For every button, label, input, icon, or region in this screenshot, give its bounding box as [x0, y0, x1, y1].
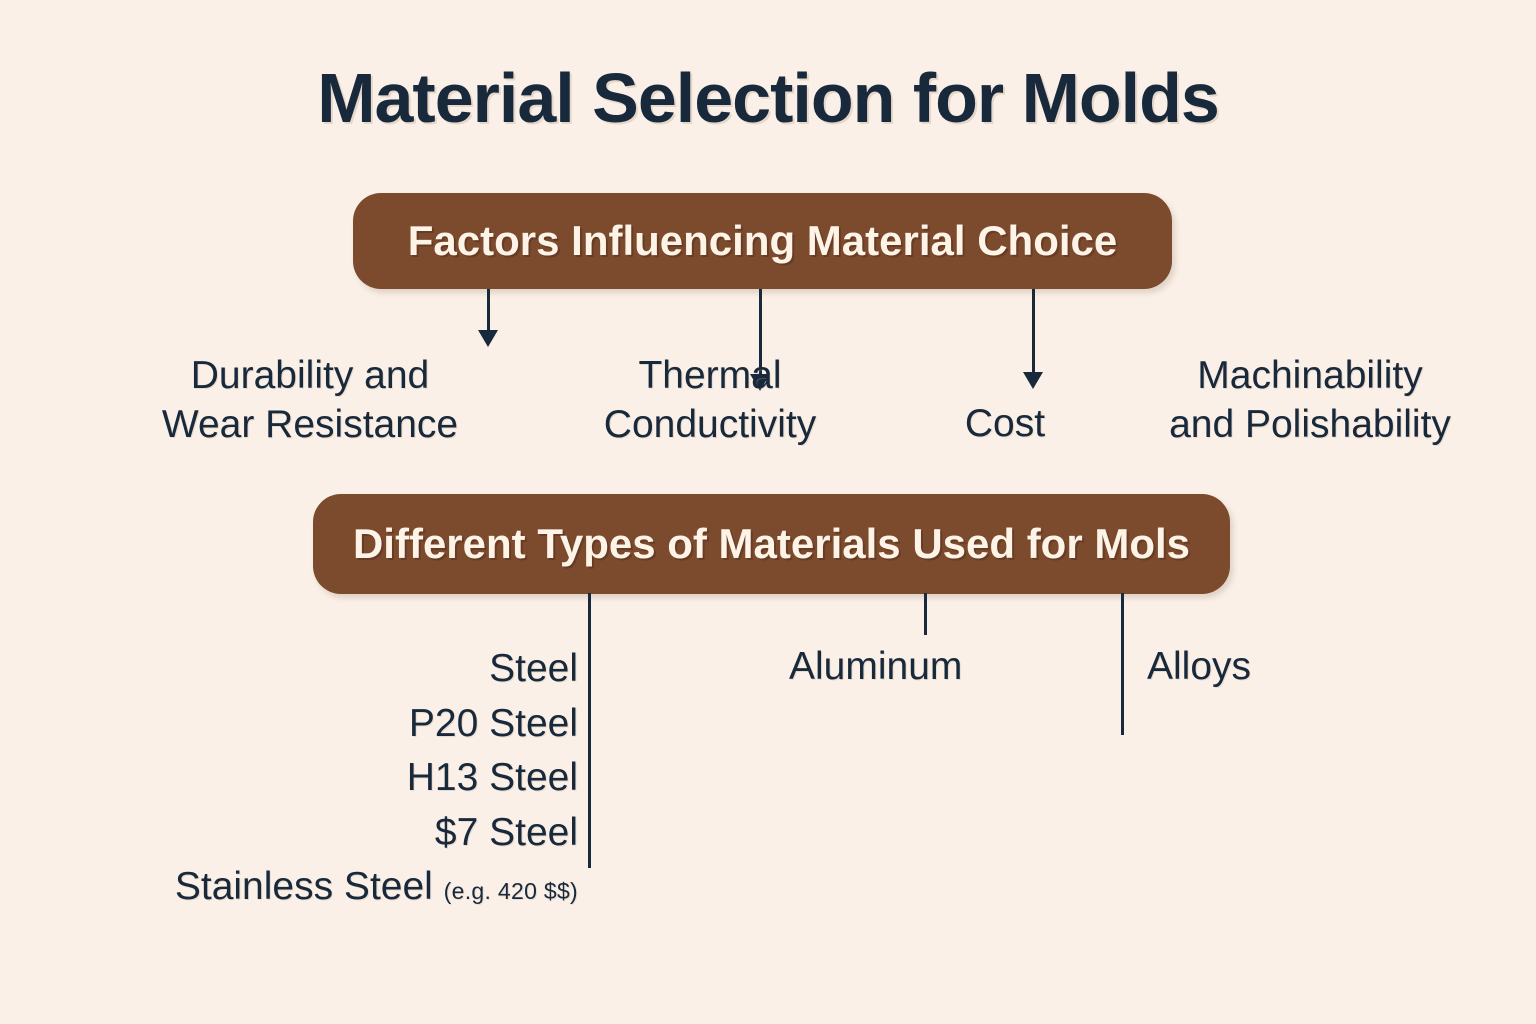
node-different-types-of-materials[interactable]: Different Types of Materials Used for Mo… — [313, 494, 1230, 594]
factor-thermal-line1: Thermal — [520, 352, 900, 401]
factor-cost-line1: Cost — [900, 400, 1110, 449]
factor-thermal-line2: Conductivity — [520, 401, 900, 450]
node-factors-label: Factors Influencing Material Choice — [408, 217, 1117, 265]
steel-item-label: Steel — [489, 647, 578, 690]
factor-durability-line2: Wear Resistance — [110, 401, 510, 450]
connector-materials-to-aluminum — [924, 593, 927, 635]
list-item: H13 Steel — [60, 751, 578, 806]
list-item: Steel — [60, 642, 578, 697]
material-type-aluminum: Aluminum — [789, 645, 962, 689]
list-item: $7 Steel — [60, 806, 578, 861]
node-materials-label: Different Types of Materials Used for Mo… — [353, 520, 1190, 568]
connector-materials-to-steel — [588, 593, 591, 868]
factor-machinability-and-polishability: Machinability and Polishability — [1110, 352, 1510, 450]
page-title: Material Selection for Molds — [0, 58, 1536, 138]
connector-factors-to-cost — [1032, 289, 1035, 377]
steel-item-label: H13 Steel — [407, 756, 578, 799]
connector-factors-to-durability — [487, 289, 490, 335]
steel-item-note: (e.g. 420 $$) — [444, 878, 578, 904]
factor-machinability-line2: and Polishability — [1110, 401, 1510, 450]
material-type-alloys: Alloys — [1147, 645, 1251, 689]
factor-thermal-conductivity: Thermal Conductivity — [520, 352, 900, 450]
arrowhead-durability-icon — [478, 330, 498, 347]
list-item: Stainless Steel (e.g. 420 $$) — [60, 860, 578, 915]
list-item: P20 Steel — [60, 697, 578, 752]
node-factors-influencing-material-choice[interactable]: Factors Influencing Material Choice — [353, 193, 1172, 289]
steel-item-label: P20 Steel — [409, 702, 578, 745]
factor-durability-and-wear-resistance: Durability and Wear Resistance — [110, 352, 510, 450]
diagram-canvas: Material Selection for Molds Factors Inf… — [0, 0, 1536, 1024]
factor-durability-line1: Durability and — [110, 352, 510, 401]
steel-item-list: Steel P20 Steel H13 Steel $7 Steel Stain… — [60, 642, 578, 915]
steel-item-label: $7 Steel — [435, 811, 578, 854]
steel-item-label: Stainless Steel — [175, 865, 433, 908]
connector-materials-to-alloys — [1121, 593, 1124, 735]
factor-machinability-line1: Machinability — [1110, 352, 1510, 401]
arrowhead-cost-icon — [1023, 372, 1043, 389]
factor-cost: Cost — [900, 400, 1110, 449]
